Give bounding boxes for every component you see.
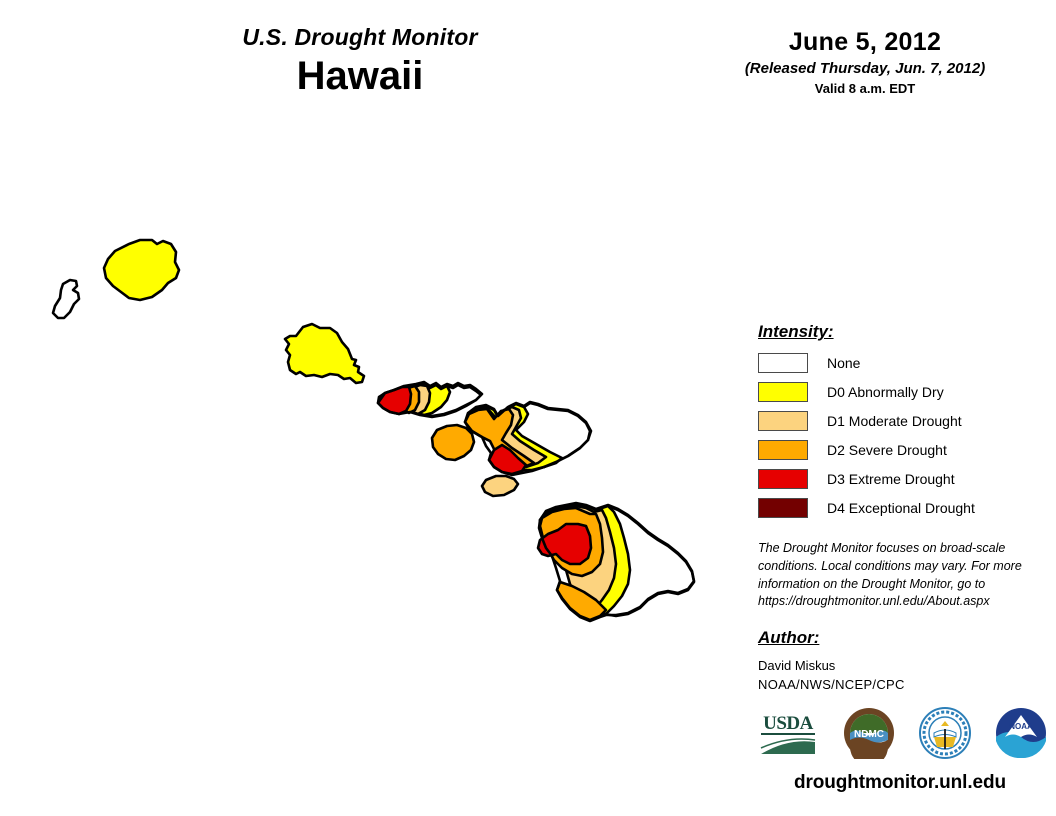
disclaimer-text: The Drought Monitor focuses on broad-sca… — [758, 540, 1033, 611]
island-lanai — [432, 425, 474, 460]
legend-item-d1: D1 Moderate Drought — [758, 408, 1043, 433]
hawaii-drought-map — [0, 120, 760, 720]
title-block: U.S. Drought Monitor Hawaii — [120, 24, 600, 97]
noaa-logo: NOAA — [995, 707, 1047, 759]
release-date: (Released Thursday, Jun. 7, 2012) — [700, 60, 1030, 77]
valid-time: Valid 8 a.m. EDT — [700, 81, 1030, 96]
legend-label-d3: D3 Extreme Drought — [827, 471, 955, 487]
island-maui — [465, 402, 591, 475]
author-name: David Miskus — [758, 657, 1038, 676]
legend-swatch-d0 — [758, 382, 808, 402]
legend-swatch-d2 — [758, 440, 808, 460]
usda-logo: USDA — [757, 707, 819, 759]
legend-title: Intensity: — [758, 322, 1043, 342]
legend-label-d0: D0 Abnormally Dry — [827, 384, 944, 400]
island-niihau — [53, 280, 79, 318]
page-title: U.S. Drought Monitor — [120, 24, 600, 51]
legend-item-d2: D2 Severe Drought — [758, 437, 1043, 462]
author-organization: NOAA/NWS/NCEP/CPC — [758, 676, 1038, 695]
legend-swatch-none — [758, 353, 808, 373]
logo-row: USDA NDMC NOAA — [757, 705, 1047, 760]
legend-item-d3: D3 Extreme Drought — [758, 466, 1043, 491]
legend-label-d4: D4 Exceptional Drought — [827, 500, 975, 516]
legend-label-d2: D2 Severe Drought — [827, 442, 947, 458]
legend-item-d4: D4 Exceptional Drought — [758, 495, 1043, 520]
author-block: Author: David Miskus NOAA/NWS/NCEP/CPC — [758, 628, 1038, 695]
map-date: June 5, 2012 — [700, 28, 1030, 57]
legend-swatch-d3 — [758, 469, 808, 489]
legend-item-none: None — [758, 350, 1043, 375]
island-hawaii-big — [538, 503, 694, 621]
svg-text:NDMC: NDMC — [854, 729, 884, 740]
island-oahu — [285, 324, 364, 383]
unl-logo — [919, 707, 971, 759]
date-block: June 5, 2012 (Released Thursday, Jun. 7,… — [700, 28, 1030, 96]
legend-swatch-d1 — [758, 411, 808, 431]
legend: Intensity: None D0 Abnormally Dry D1 Mod… — [758, 322, 1043, 524]
island-kahoolawe — [482, 476, 518, 496]
island-kauai — [104, 240, 179, 300]
legend-item-d0: D0 Abnormally Dry — [758, 379, 1043, 404]
state-title: Hawaii — [120, 55, 600, 97]
legend-swatch-d4 — [758, 498, 808, 518]
ndmc-logo: NDMC — [843, 707, 895, 759]
svg-text:NOAA: NOAA — [1009, 722, 1033, 731]
svg-text:USDA: USDA — [763, 713, 814, 734]
author-title: Author: — [758, 628, 1038, 648]
footer-url: droughtmonitor.unl.edu — [750, 772, 1050, 794]
legend-label-none: None — [827, 355, 860, 371]
legend-label-d1: D1 Moderate Drought — [827, 413, 962, 429]
island-molokai — [378, 382, 482, 417]
